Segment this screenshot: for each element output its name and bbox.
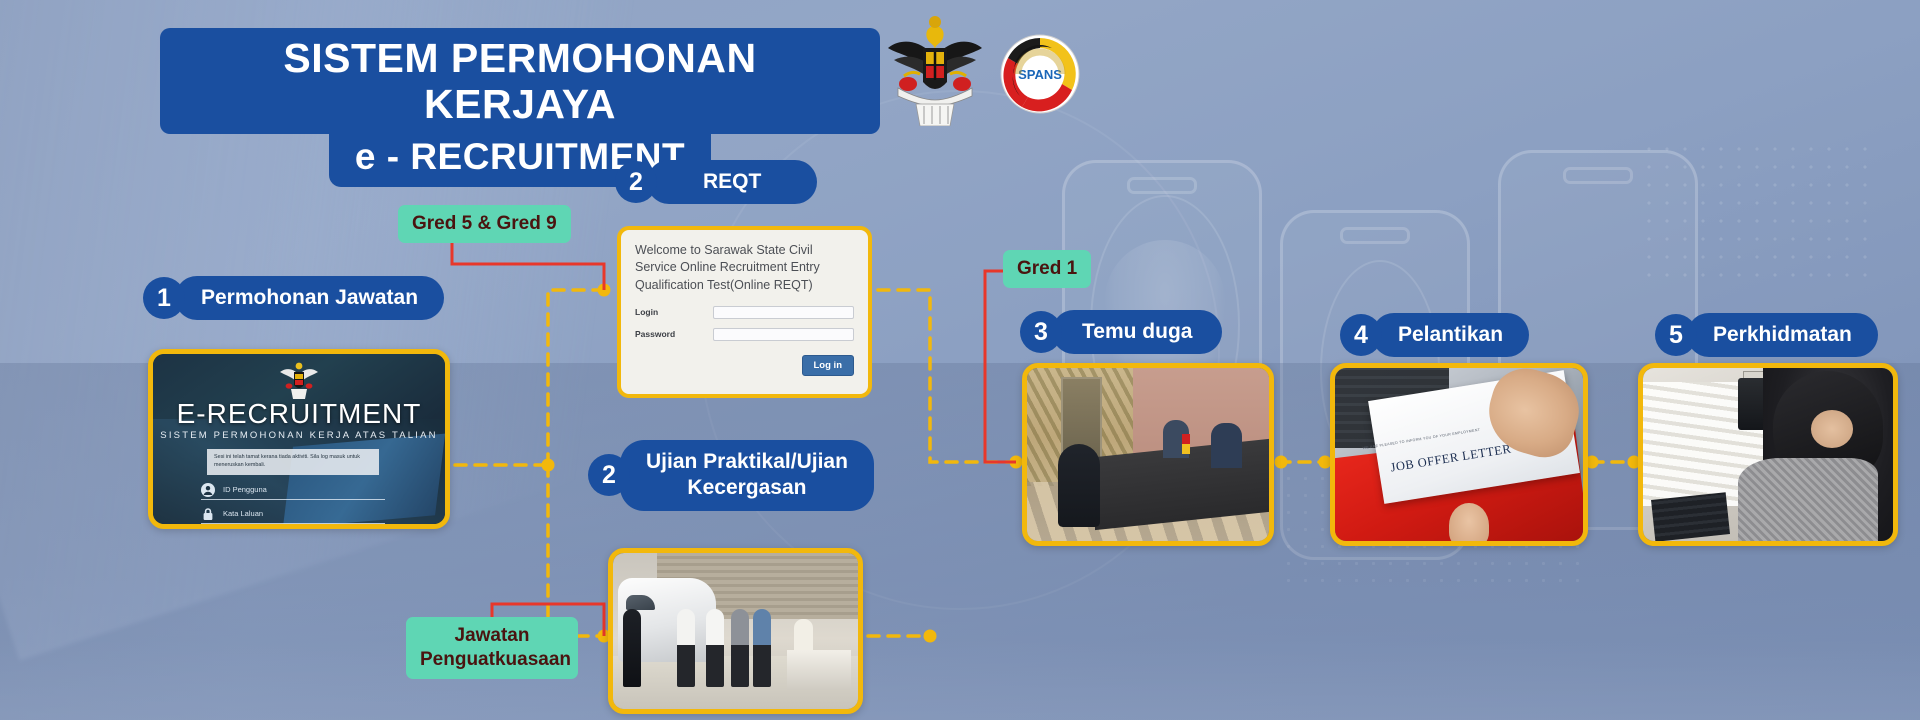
background-bottom-band [0,640,1920,720]
step-5-perkhidmatan[interactable]: 5 Perkhidmatan [1655,313,1878,357]
step-1-number: 1 [143,277,185,319]
office-service-photo [1643,368,1893,541]
step-4-pelantikan[interactable]: 4 Pelantikan [1340,313,1529,357]
person-2 [677,609,695,687]
candidate-seated [1058,444,1099,527]
reqt-login-button[interactable]: Log in [802,355,855,376]
erecruitment-user-field[interactable]: ID Pengguna [201,480,385,500]
background-dot-grid-2 [1640,140,1880,280]
person-4 [731,609,749,687]
erecruitment-title: E-RECRUITMENT [153,398,445,430]
user-circle-icon [201,483,215,497]
sarawak-state-crest-icon [880,8,990,126]
inspection-table [787,650,851,691]
reqt-login-row: Login [635,306,854,319]
reqt-login-label: Login [635,307,713,317]
title-line-1: SISTEM PERMOHONAN KERJAYA [160,28,880,134]
reqt-button-row: Log in [635,355,854,376]
officer-face [1811,410,1854,448]
person-3 [706,609,724,687]
reqt-password-label: Password [635,329,713,339]
table-flag [1182,434,1190,454]
person-5 [753,609,771,687]
service-photo-card[interactable] [1638,363,1898,546]
step-3-label: Temu duga [1052,310,1222,354]
step-2-ujian-label: Ujian Praktikal/Ujian Kecergasan [620,440,874,511]
erecruitment-login-screenshot-card[interactable]: E-RECRUITMENT SISTEM PERMOHONAN KERJA AT… [148,349,450,529]
step-2-reqt[interactable]: 2 REQT [615,160,817,204]
reqt-password-input[interactable] [713,328,854,341]
spans-logo-text: SPANS [1018,67,1062,82]
erecruitment-password-field[interactable]: Kata Laluan [201,504,385,524]
step-4-label: Pelantikan [1372,313,1529,357]
reqt-login-panel[interactable]: Welcome to Sarawak State Civil Service O… [617,226,872,398]
step-2-ujian-number: 2 [588,454,630,496]
reqt-login-input[interactable] [713,306,854,319]
erecruitment-session-notice: Sesi ini telah tamat kerana tiada aktivi… [207,449,379,475]
step-3-temu-duga[interactable]: 3 Temu duga [1020,310,1222,354]
tag-gred-1: Gred 1 [1003,250,1091,288]
erecruitment-password-label: Kata Laluan [223,509,263,518]
erecruitment-crest-icon [278,358,320,400]
step-2-ujian-praktikal[interactable]: 2 Ujian Praktikal/Ujian Kecergasan [588,440,874,511]
step-1-permohonan-jawatan[interactable]: 1 Permohonan Jawatan [143,276,444,320]
officer-sweater [1738,458,1878,541]
job-offer-photo-card[interactable]: WE ARE PLEASED TO INFORM YOU OF YOUR EMP… [1330,363,1588,546]
panel-member-2 [1211,423,1242,468]
step-2-reqt-number: 2 [615,161,657,203]
practical-test-photo [613,553,858,709]
practical-test-photo-card[interactable] [608,548,863,714]
office-keyboard [1651,492,1730,541]
thumb [1449,503,1489,546]
step-2-reqt-label: REQT [647,160,817,204]
lock-icon [201,507,215,521]
step-1-label: Permohonan Jawatan [175,276,444,320]
tag-gred-5-and-9: Gred 5 & Gred 9 [398,205,571,243]
step-3-number: 3 [1020,311,1062,353]
erecruitment-user-label: ID Pengguna [223,485,267,494]
reqt-welcome-text: Welcome to Sarawak State Civil Service O… [635,242,854,294]
vehicle-window [626,595,655,610]
step-4-number: 4 [1340,314,1382,356]
job-offer-photo: WE ARE PLEASED TO INFORM YOU OF YOUR EMP… [1335,368,1583,541]
interview-photo-card[interactable] [1022,363,1274,546]
person-1 [623,609,641,687]
infographic-canvas: SISTEM PERMOHONAN KERJAYA e - RECRUITMEN… [0,0,1920,720]
step-5-number: 5 [1655,314,1697,356]
tag-jawatan-penguatkuasaan: Jawatan Penguatkuasaan [406,617,578,679]
spans-logo-icon: SPANS [1000,34,1080,114]
erecruitment-subtitle: SISTEM PERMOHONAN KERJA ATAS TALIAN [153,430,445,441]
reqt-password-row: Password [635,328,854,341]
step-5-label: Perkhidmatan [1687,313,1878,357]
interview-photo [1027,368,1269,541]
